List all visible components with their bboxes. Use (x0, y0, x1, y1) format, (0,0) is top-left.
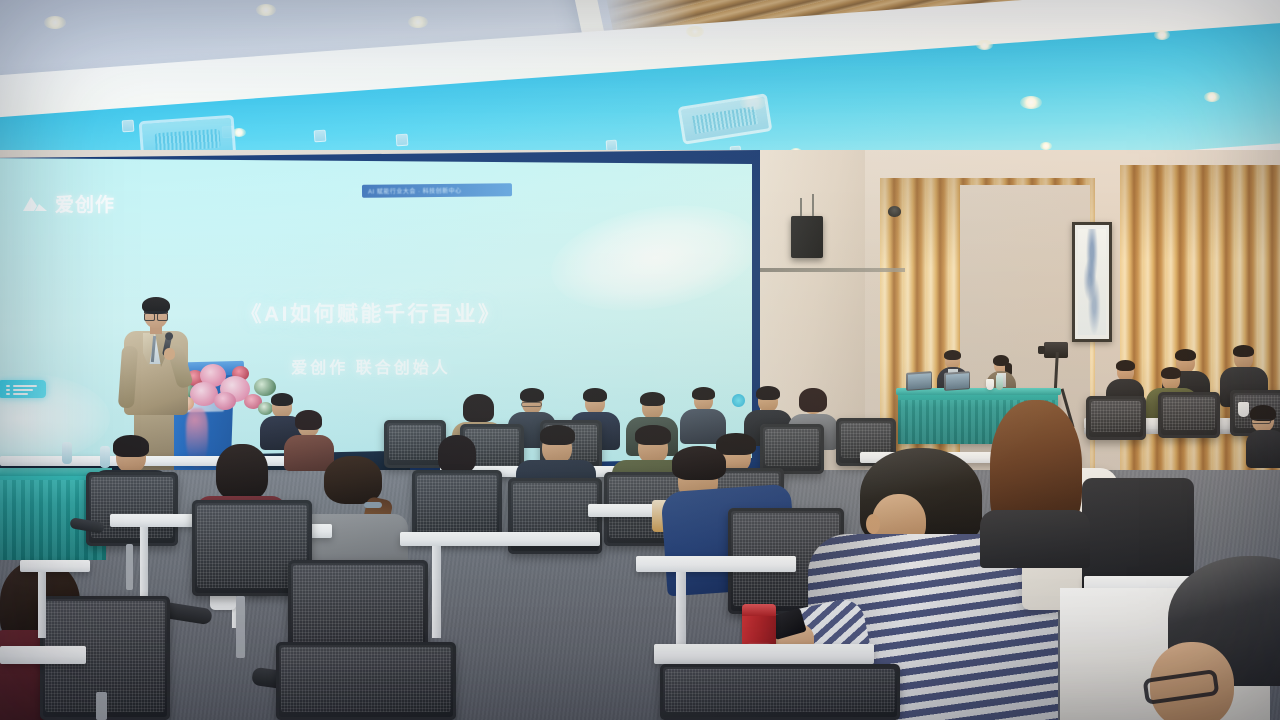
thermos-cap (742, 604, 776, 616)
attendee-hair (113, 435, 149, 457)
desk (0, 646, 86, 664)
presenter-hand (164, 348, 175, 360)
attendee-hair (1175, 349, 1196, 361)
attendee-hair (1161, 367, 1181, 379)
downlight-icon (1204, 92, 1220, 102)
desk-leg (38, 572, 46, 638)
attendee-hair (1116, 360, 1135, 371)
staff-laptop (906, 371, 932, 391)
hair-tie-icon (364, 502, 382, 508)
staff-laptop (944, 371, 970, 391)
downlight-icon (1154, 30, 1170, 40)
desk-leg (432, 546, 441, 638)
desk-leg (140, 527, 148, 605)
slide-top-banner-text: AI 赋能行业大会 · 科技创新中心 (368, 186, 462, 196)
attendee-hair (438, 435, 476, 473)
attendee (284, 414, 334, 468)
attendee-hair (463, 394, 494, 422)
attendee (1150, 556, 1280, 720)
attendee-hair (692, 387, 715, 400)
water-bottle (100, 446, 110, 468)
attendee-hair (635, 425, 671, 445)
attendee-ear (866, 514, 880, 534)
downlight-icon (256, 4, 276, 16)
downlight-icon (44, 16, 66, 29)
attendee-hair (295, 410, 322, 430)
staff-hair (944, 350, 961, 360)
chair-post (126, 544, 133, 590)
attendee-shoulder (980, 510, 1090, 568)
pa-speaker-icon (791, 216, 823, 258)
air-vent-icon (314, 130, 327, 143)
attendee (980, 400, 1090, 560)
mountain-logo-icon (22, 195, 48, 213)
glasses-icon (521, 402, 542, 407)
chair (1158, 392, 1220, 438)
wall-rail (745, 268, 905, 272)
downlight-icon (408, 16, 428, 28)
water-bottle (62, 442, 72, 464)
downlight-icon (1020, 96, 1042, 109)
water-bottle (996, 374, 1003, 390)
slide-title: 《AI如何赋能千行百业》 (0, 298, 752, 328)
chair (276, 642, 456, 720)
slide-top-banner: AI 赋能行业大会 · 科技创新中心 (362, 183, 512, 198)
slide-brand-name: 爱创作 (55, 190, 115, 217)
downlight-icon (1040, 142, 1052, 150)
slide-decor-badge (0, 380, 46, 398)
downlight-icon (686, 26, 704, 37)
glasses-icon (1251, 419, 1271, 424)
desk (636, 556, 796, 572)
framed-artwork (1072, 222, 1112, 342)
attendee (1246, 408, 1280, 466)
desk (20, 560, 90, 572)
attendee-hair (540, 425, 575, 445)
chair-post (96, 692, 107, 720)
air-vent-icon (396, 134, 409, 147)
attendee-hair (799, 388, 827, 412)
chair (1086, 396, 1146, 440)
attendee-hair (1233, 345, 1254, 357)
air-vent-icon (122, 120, 135, 133)
attendee-hair (216, 444, 268, 500)
chair (86, 472, 178, 546)
desk (654, 644, 874, 664)
chair-post (236, 596, 245, 658)
chair (660, 664, 900, 720)
desk (400, 532, 600, 546)
attendee-hair (672, 446, 726, 480)
attendee-hair (520, 388, 544, 402)
attendee-hair (271, 393, 293, 406)
slide-subtitle: 爱创作 联合创始人 (0, 354, 752, 378)
attendee-hair (756, 386, 780, 400)
conference-photo: 爱创作 AI 赋能行业大会 · 科技创新中心 《AI如何赋能千行百业》 爱创作 … (0, 0, 1280, 720)
attendee-hair (640, 392, 665, 406)
slide-brand-lockup: 爱创作 (22, 190, 115, 217)
attendee-hair (583, 388, 607, 402)
glasses-icon (144, 311, 168, 317)
security-camera-icon (888, 206, 901, 217)
downlight-icon (976, 40, 993, 50)
water-cup (986, 379, 994, 390)
attendee-torso (1246, 430, 1280, 468)
